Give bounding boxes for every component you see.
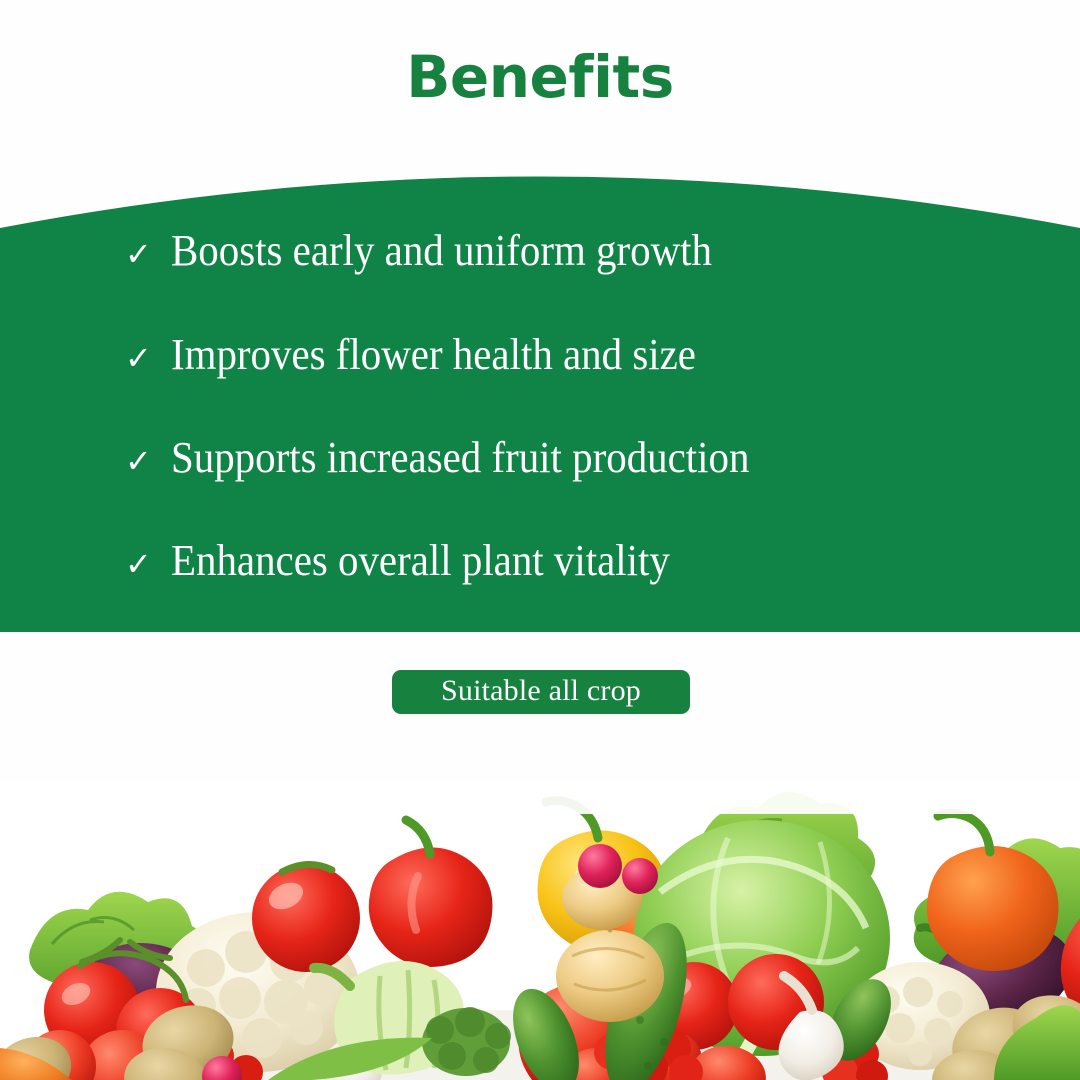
list-item-label: Boosts early and uniform growth: [171, 229, 900, 273]
bell-pepper-red-center: [369, 820, 493, 967]
check-icon: ✓: [125, 548, 171, 580]
list-item: ✓ Improves flower health and size: [0, 333, 1080, 377]
status-badge: Suitable all crop: [392, 670, 690, 714]
list-item: ✓ Supports increased fruit production: [0, 436, 1080, 480]
check-icon: ✓: [125, 445, 171, 477]
list-item: ✓ Enhances overall plant vitality: [0, 539, 1080, 583]
vegetables-photo: [0, 780, 1080, 1080]
list-item-label: Enhances overall plant vitality: [171, 539, 900, 583]
page-title: Benefits: [0, 48, 1080, 106]
status-badge-label: Suitable all crop: [441, 676, 641, 708]
benefits-list: ✓ Boosts early and uniform growth ✓ Impr…: [0, 143, 1080, 632]
tomato-center: [252, 864, 360, 972]
check-icon: ✓: [125, 238, 171, 270]
list-item: ✓ Boosts early and uniform growth: [0, 229, 1080, 273]
bell-pepper-orange: [927, 813, 1059, 971]
benefits-poster: Benefits ✓ Boosts early and uniform grow…: [0, 0, 1080, 1080]
check-icon: ✓: [125, 342, 171, 374]
vegetables-illustration: [0, 780, 1080, 1080]
list-item-label: Improves flower health and size: [171, 333, 900, 377]
list-item-label: Supports increased fruit production: [171, 436, 900, 480]
